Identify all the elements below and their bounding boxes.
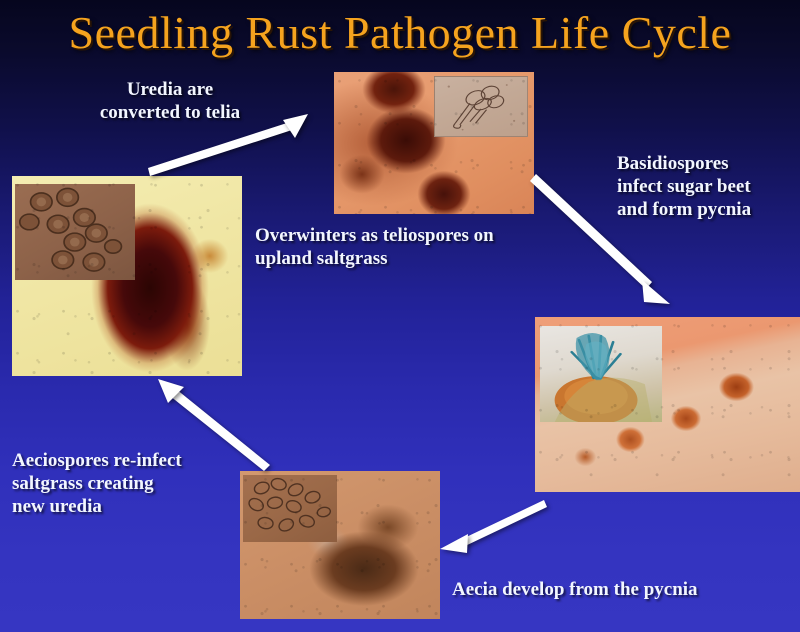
caption-uredia-to-telia: Uredia are converted to telia bbox=[40, 78, 300, 124]
aeciospore-inset bbox=[243, 475, 337, 542]
pycnia-micrograph bbox=[535, 317, 800, 492]
urediniospore-inset bbox=[15, 184, 135, 280]
caption-basidiospores: Basidiospores infect sugar beet and form… bbox=[617, 152, 797, 222]
uredinium-micrograph bbox=[12, 176, 242, 376]
page-title: Seedling Rust Pathogen Life Cycle bbox=[0, 6, 800, 59]
pycnium-exudate-inset bbox=[540, 326, 662, 422]
teliospore-outline-inset bbox=[434, 76, 528, 137]
slide-canvas: Seedling Rust Pathogen Life Cycle bbox=[0, 0, 800, 632]
caption-overwinters: Overwinters as teliospores on upland sal… bbox=[255, 224, 585, 270]
teliospores-micrograph bbox=[334, 72, 534, 214]
caption-aeciospores: Aeciospores re-infect saltgrass creating… bbox=[12, 449, 252, 519]
arrow-pycnia-to-aecia bbox=[436, 496, 556, 562]
aecia-micrograph bbox=[240, 471, 440, 619]
caption-aecia: Aecia develop from the pycnia bbox=[452, 578, 792, 601]
